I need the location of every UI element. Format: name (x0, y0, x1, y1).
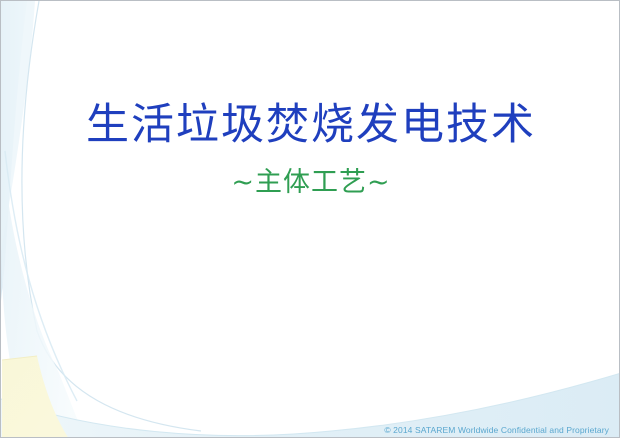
slide-content: 生活垃圾焚烧发电技术 ~主体工艺~ © 2014 SATAREM Worldwi… (1, 1, 620, 438)
title-block: 生活垃圾焚烧发电技术 ~主体工艺~ (1, 101, 620, 198)
presentation-slide: 生活垃圾焚烧发电技术 ~主体工艺~ © 2014 SATAREM Worldwi… (0, 0, 620, 438)
copyright-footer: © 2014 SATAREM Worldwide Confidential an… (1, 425, 609, 436)
page-subtitle: ~主体工艺~ (1, 149, 620, 198)
page-title: 生活垃圾焚烧发电技术 (1, 101, 620, 149)
